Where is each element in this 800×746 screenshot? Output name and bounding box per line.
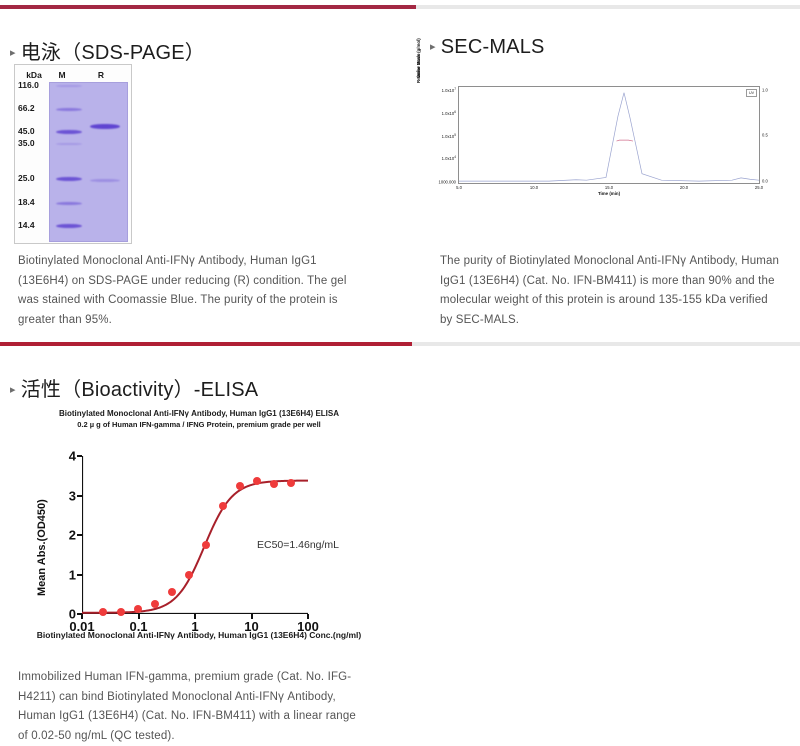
gel-band-marker: [56, 143, 82, 145]
sec-mals-y2-tick: 0.0: [762, 178, 768, 183]
section-heading-sec-mals: ▸SEC-MALS: [430, 36, 545, 59]
gel-band-marker: [56, 202, 82, 205]
section-heading-bioactivity-label: 活性（Bioactivity）-ELISA: [21, 379, 259, 401]
elisa-chart-subtitle: 0.2 µ g of Human IFN-gamma / IFNG Protei…: [14, 420, 384, 429]
elisa-y-tick: 1: [69, 567, 76, 582]
sec-mals-x-axis-label: Time (min): [598, 191, 620, 196]
elisa-y-axis-label: Mean Abs.(OD450): [36, 499, 48, 596]
caret-icon: ▸: [430, 40, 436, 53]
divider-accent: [0, 342, 412, 346]
elisa-data-point: [270, 480, 278, 488]
sec-mals-x-tick: 10.0: [530, 185, 538, 190]
elisa-plot-area: EC50=1.46ng/mL 012340.010.1110100: [82, 456, 308, 614]
caret-icon: ▸: [10, 383, 16, 396]
elisa-data-point: [151, 600, 159, 608]
sec-mals-y-tick: 1.0x106: [442, 110, 456, 116]
sds-page-gel-figure: kDa M R 116.066.245.035.025.018.414.4: [14, 64, 132, 244]
sec-mals-series-line: [459, 93, 759, 181]
elisa-data-point: [117, 608, 125, 616]
elisa-data-point: [99, 608, 107, 616]
elisa-y-tick-mark: [77, 574, 82, 576]
gel-band-marker: [56, 108, 82, 111]
sec-mals-x-tick: 5.0: [456, 185, 462, 190]
gel-mw-label: 18.4: [18, 197, 48, 207]
gel-column-header-m: M: [49, 70, 75, 80]
gel-column-header-r: R: [81, 70, 121, 80]
gel-band-marker: [56, 85, 82, 87]
elisa-x-tick-mark: [307, 614, 309, 619]
sec-mals-chromatogram-figure: Molar Mass (g/mol) Relative Scale UV Tim…: [416, 78, 788, 210]
sec-mals-y2-axis-label: Relative Scale: [416, 0, 421, 83]
sec-mals-x-tick: 20.0: [680, 185, 688, 190]
sec-mals-trace: [459, 87, 759, 183]
elisa-y-tick-mark: [77, 455, 82, 457]
top-divider-bar: [0, 5, 800, 9]
sec-mals-y-tick: 1.0x107: [442, 87, 456, 93]
section-heading-sds-page: ▸电泳（SDS-PAGE）: [10, 36, 205, 65]
gel-mw-label: 25.0: [18, 173, 48, 183]
gel-band-marker: [56, 177, 82, 181]
caret-icon: ▸: [10, 46, 16, 59]
gel-mw-label: 66.2: [18, 103, 48, 113]
sec-mals-y2-tick: 1.0: [762, 87, 768, 92]
elisa-data-point: [168, 588, 176, 596]
elisa-data-point: [134, 605, 142, 613]
elisa-x-tick-mark: [251, 614, 253, 619]
section-heading-sec-mals-label: SEC-MALS: [441, 36, 545, 58]
elisa-y-tick: 2: [69, 528, 76, 543]
divider-accent: [0, 5, 416, 9]
sec-mals-series-line: [617, 140, 634, 141]
elisa-x-tick-mark: [138, 614, 140, 619]
elisa-x-tick-mark: [81, 614, 83, 619]
gel-lane-area: [49, 82, 128, 242]
elisa-y-tick-mark: [77, 495, 82, 497]
gel-column-header-kda: kDa: [19, 70, 49, 80]
elisa-data-point: [236, 482, 244, 490]
sec-mals-legend: UV: [746, 89, 757, 97]
section-heading-sds-page-label: 电泳（SDS-PAGE）: [21, 42, 205, 64]
sec-mals-x-tick: 15.0: [605, 185, 613, 190]
sec-mals-y-tick: 1000.000: [439, 179, 456, 184]
section-heading-bioactivity: ▸活性（Bioactivity）-ELISA: [10, 373, 258, 402]
gel-mw-label: 14.4: [18, 220, 48, 230]
elisa-chart-figure: Biotinylated Monoclonal Anti-IFNγ Antibo…: [14, 408, 384, 653]
sec-mals-x-tick: 25.0: [755, 185, 763, 190]
elisa-data-point: [287, 479, 295, 487]
gel-mw-label: 116.0: [18, 80, 48, 90]
gel-band-marker: [56, 224, 82, 228]
sec-mals-y-tick: 1.0x104: [442, 155, 456, 161]
gel-band-marker: [56, 130, 82, 134]
elisa-x-tick-mark: [194, 614, 196, 619]
elisa-data-point: [253, 477, 261, 485]
elisa-y-tick-mark: [77, 534, 82, 536]
sds-page-caption: Biotinylated Monoclonal Anti-IFNγ Antibo…: [18, 252, 348, 330]
sec-mals-plot-area: UV Time (min) 1.0x1071.0x1061.0x1051.0x1…: [458, 86, 760, 184]
elisa-chart-title: Biotinylated Monoclonal Anti-IFNγ Antibo…: [14, 408, 384, 420]
sec-mals-y-tick: 1.0x105: [442, 133, 456, 139]
mid-divider-bar: [0, 342, 800, 346]
gel-band-sample: [90, 124, 120, 129]
sec-mals-y2-tick: 0.5: [762, 133, 768, 138]
bioactivity-caption: Immobilized Human IFN-gamma, premium gra…: [18, 668, 363, 746]
elisa-x-axis-label: Biotinylated Monoclonal Anti-IFNγ Antibo…: [14, 630, 384, 640]
gel-mw-label: 45.0: [18, 126, 48, 136]
elisa-y-tick: 3: [69, 488, 76, 503]
sec-mals-caption: The purity of Biotinylated Monoclonal An…: [440, 252, 780, 330]
elisa-y-tick: 4: [69, 449, 76, 464]
elisa-ec50-annotation: EC50=1.46ng/mL: [257, 539, 339, 551]
gel-band-sample: [90, 179, 120, 182]
gel-mw-label: 35.0: [18, 138, 48, 148]
